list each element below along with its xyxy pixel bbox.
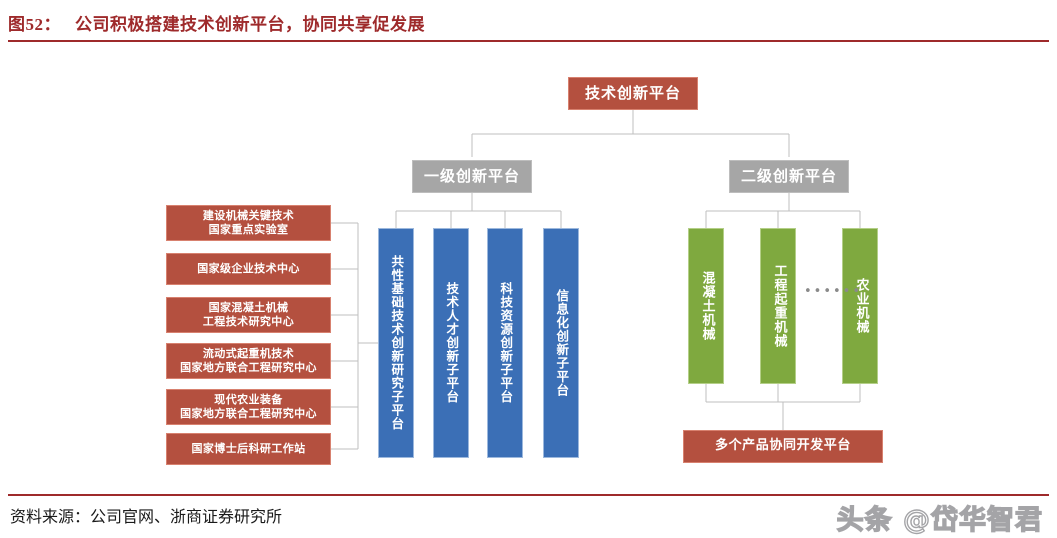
node-support-lab[interactable]: 建设机械关键技术 国家重点实验室 — [166, 205, 331, 241]
figure-label: 图52： — [8, 10, 61, 35]
title-divider — [8, 40, 1049, 42]
node-level2-heading[interactable]: 二级创新平台 — [729, 160, 849, 193]
node-support-concrete-center[interactable]: 国家混凝土机械 工程技术研究中心 — [166, 297, 331, 333]
org-chart: 技术创新平台 一级创新平台 二级创新平台 建设机械关键技术 国家重点实验室 国家… — [0, 46, 1057, 492]
figure-title-text: 公司积极搭建技术创新平台，协同共享促发展 — [75, 10, 425, 35]
source-note: 资料来源：公司官网、浙商证券研究所 — [10, 503, 282, 527]
node-subplatform-common-tech[interactable]: 共性基础技术创新研究子平台 — [378, 228, 414, 458]
node-subplatform-informatization[interactable]: 信息化创新子平台 — [543, 228, 579, 458]
node-support-concrete-center-label: 国家混凝土机械 工程技术研究中心 — [203, 301, 294, 329]
node-support-enterprise-center-label: 国家级企业技术中心 — [197, 262, 300, 276]
product-ellipsis: •••••• — [804, 284, 862, 299]
node-subplatform-talent[interactable]: 技术人才创新子平台 — [433, 228, 469, 458]
node-support-postdoc-station-label: 国家博士后科研工作站 — [192, 442, 306, 456]
node-product-concrete-machinery[interactable]: 混凝土机械 — [688, 228, 724, 384]
node-subplatform-resources[interactable]: 科技资源创新子平台 — [487, 228, 523, 458]
node-support-enterprise-center[interactable]: 国家级企业技术中心 — [166, 253, 331, 285]
footer-divider — [8, 494, 1049, 496]
node-multi-product-platform[interactable]: 多个产品协同开发平台 — [683, 430, 883, 463]
connector-lines — [0, 46, 1057, 492]
watermark: 头条 @岱华智君 — [837, 498, 1043, 537]
node-support-postdoc-station[interactable]: 国家博士后科研工作站 — [166, 433, 331, 465]
node-support-agri-center-label: 现代农业装备 国家地方联合工程研究中心 — [180, 393, 317, 421]
node-level1-heading[interactable]: 一级创新平台 — [412, 160, 532, 193]
figure-page: 图52： 公司积极搭建技术创新平台，协同共享促发展 — [0, 0, 1057, 538]
node-support-agri-center[interactable]: 现代农业装备 国家地方联合工程研究中心 — [166, 389, 331, 425]
node-support-lab-label: 建设机械关键技术 国家重点实验室 — [203, 209, 294, 237]
node-root[interactable]: 技术创新平台 — [568, 77, 698, 110]
node-support-crane-center[interactable]: 流动式起重机技术 国家地方联合工程研究中心 — [166, 343, 331, 379]
node-product-agricultural-machinery[interactable]: 农业机械 — [842, 228, 878, 384]
page-title: 图52： 公司积极搭建技术创新平台，协同共享促发展 — [8, 8, 1049, 36]
node-support-crane-center-label: 流动式起重机技术 国家地方联合工程研究中心 — [180, 347, 317, 375]
node-product-crane-machinery[interactable]: 工程起重机械 — [760, 228, 796, 384]
